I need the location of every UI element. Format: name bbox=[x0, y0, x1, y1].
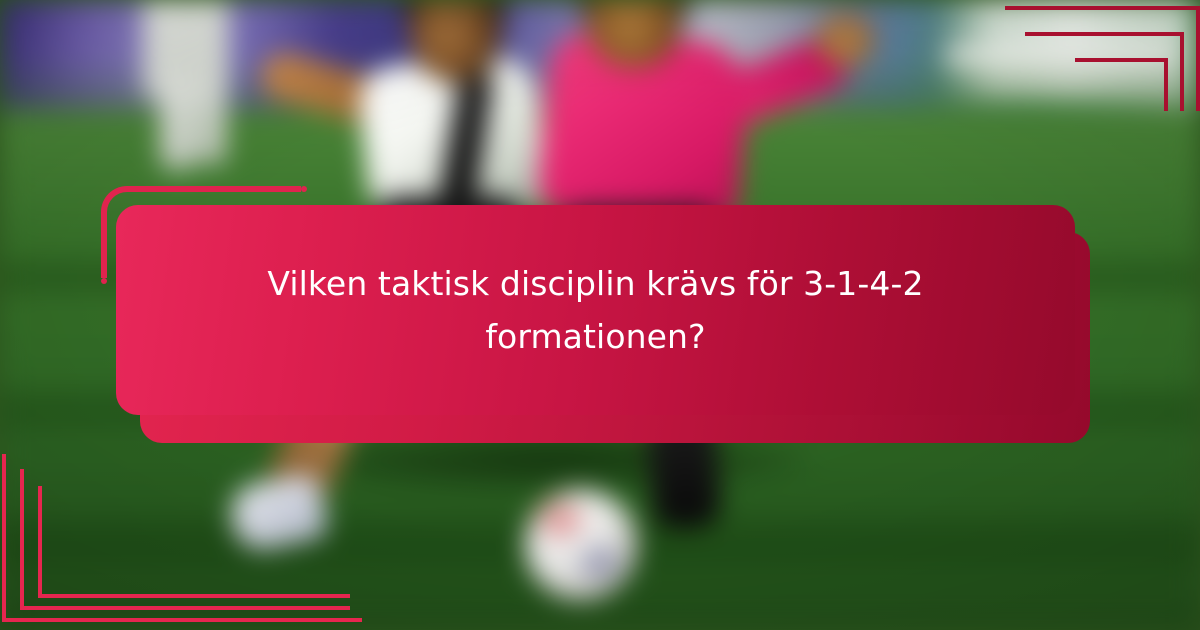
bracket-arm-horizontal bbox=[38, 594, 350, 598]
bracket-arm-horizontal bbox=[20, 606, 350, 610]
bracket-arm-horizontal bbox=[1005, 6, 1200, 10]
bracket-arm-vertical bbox=[1196, 6, 1200, 111]
question-card: Vilken taktisk disciplin krävs för 3-1-4… bbox=[116, 205, 1075, 415]
bracket-arm-horizontal bbox=[1075, 58, 1168, 62]
quiz-card-banner: Vilken taktisk disciplin krävs för 3-1-4… bbox=[0, 0, 1200, 630]
bracket-arm-vertical bbox=[38, 486, 42, 598]
bracket-arm-horizontal bbox=[1025, 32, 1184, 36]
bracket-arm-horizontal bbox=[2, 618, 362, 622]
question-title: Vilken taktisk disciplin krävs för 3-1-4… bbox=[180, 257, 1011, 364]
bracket-arm-vertical bbox=[1164, 58, 1168, 111]
bracket-arm-vertical bbox=[2, 454, 6, 622]
bracket-arm-vertical bbox=[1180, 32, 1184, 111]
bracket-arm-vertical bbox=[20, 469, 24, 610]
